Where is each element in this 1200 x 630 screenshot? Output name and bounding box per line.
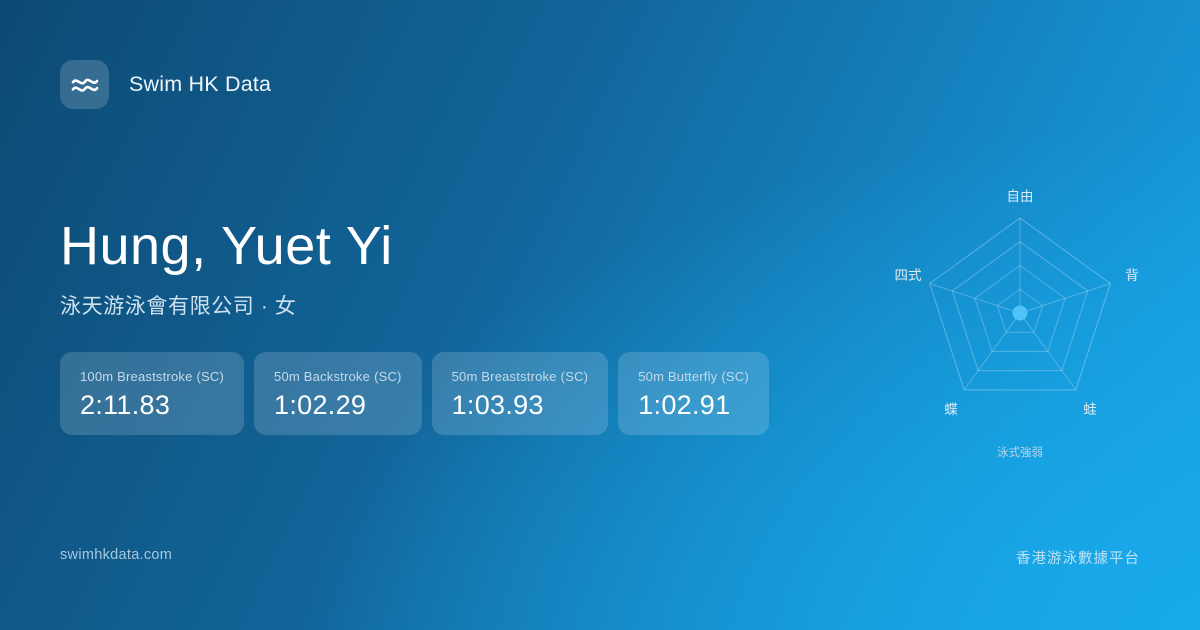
brand-header[interactable]: Swim HK Data [60,60,271,109]
stat-event-name: 50m Butterfly [638,369,717,384]
stat-course-tag: (SC) [561,369,589,384]
stat-time-value: 1:03.93 [452,391,589,419]
radar-chart-caption: 泳式強弱 [997,445,1043,459]
radar-data-point [1013,306,1028,321]
stat-event-name: 50m Breaststroke [452,369,557,384]
athlete-club: 泳天游泳會有限公司 [60,295,254,318]
radar-label-individual-medley: 四式 [895,268,923,283]
stat-course-tag: (SC) [197,369,225,384]
page-title: Hung, Yuet Yi [60,216,393,276]
stroke-strength-radar-chart: 自由 背 蛙 蝶 四式 泳式強弱 [855,165,1185,475]
stat-time-value: 1:02.91 [638,391,749,419]
athlete-hero: Hung, Yuet Yi 泳天游泳會有限公司 · 女 [60,216,393,320]
stat-event-name: 50m Backstroke [274,369,370,384]
athlete-meta: 泳天游泳會有限公司 · 女 [60,290,393,320]
radar-label-backstroke: 背 [1125,268,1139,283]
stat-card[interactable]: 100m Breaststroke(SC) 2:11.83 [60,352,244,435]
radar-label-breaststroke: 蛙 [1083,402,1097,417]
radar-spoke [1020,284,1110,313]
stat-card-label: 100m Breaststroke(SC) [80,369,224,384]
footer-site-url[interactable]: swimhkdata.com [60,547,172,563]
stat-card[interactable]: 50m Backstroke(SC) 1:02.29 [254,352,422,435]
meta-separator: · [261,295,269,318]
stat-time-value: 2:11.83 [80,391,224,419]
poster-canvas: Swim HK Data Hung, Yuet Yi 泳天游泳會有限公司 · 女… [0,0,1200,630]
radar-label-butterfly: 蝶 [944,402,958,417]
radar-label-freestyle: 自由 [1007,189,1034,204]
best-times-cards: 100m Breaststroke(SC) 2:11.83 50m Backst… [60,352,769,435]
stat-time-value: 1:02.29 [274,391,402,419]
stat-card[interactable]: 50m Breaststroke(SC) 1:03.93 [432,352,609,435]
radar-grid [930,218,1111,390]
athlete-gender: 女 [275,295,297,318]
footer-tagline: 香港游泳數據平台 [1016,547,1140,568]
stat-course-tag: (SC) [374,369,402,384]
stat-card-label: 50m Breaststroke(SC) [452,369,589,384]
brand-name: Swim HK Data [129,72,271,97]
stat-event-name: 100m Breaststroke [80,369,193,384]
stat-card[interactable]: 50m Butterfly(SC) 1:02.91 [618,352,769,435]
radar-spoke [930,284,1020,313]
wave-icon [60,60,109,109]
stat-card-label: 50m Backstroke(SC) [274,369,402,384]
stat-course-tag: (SC) [721,369,749,384]
stat-card-label: 50m Butterfly(SC) [638,369,749,384]
